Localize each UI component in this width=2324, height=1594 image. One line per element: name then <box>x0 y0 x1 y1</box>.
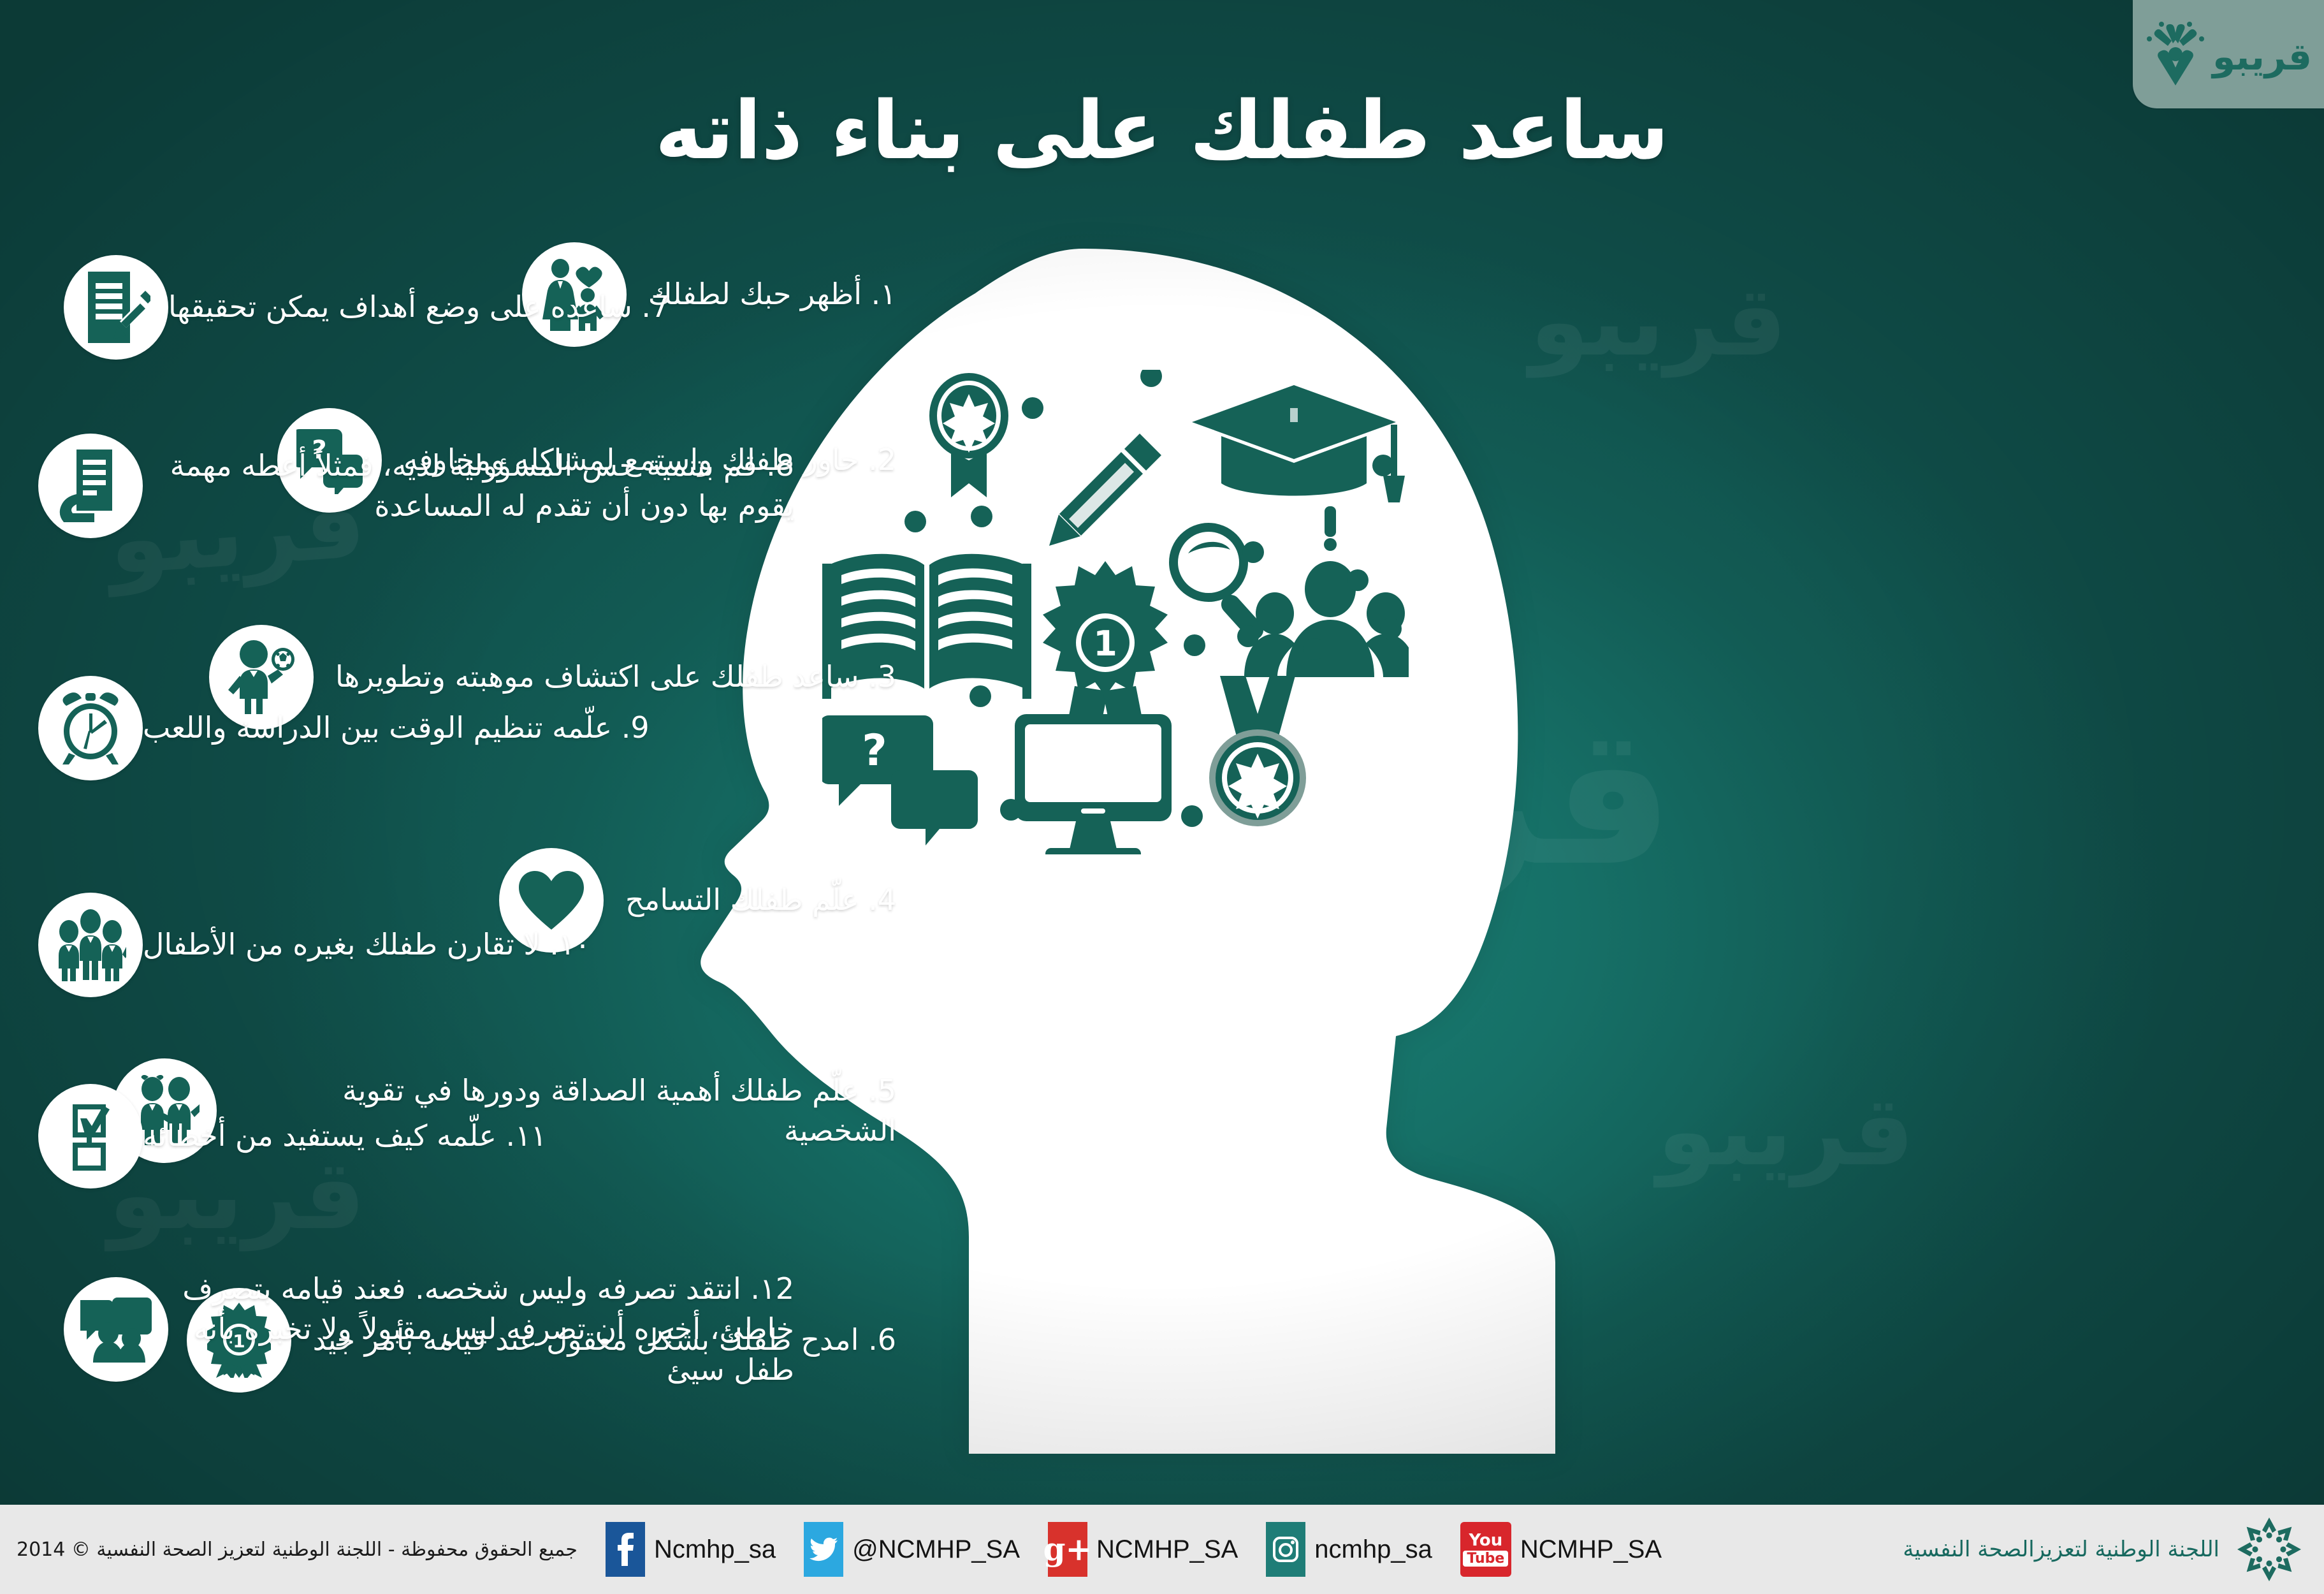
social-instagram[interactable]: ncmhp_sa <box>1266 1522 1432 1577</box>
starburst-people-logo-icon <box>2233 1514 2305 1585</box>
brain-icon-cluster: 1 ? <box>822 370 1409 854</box>
social-twitter[interactable]: @NCMHP_SA <box>804 1522 1020 1577</box>
tip-text-7: 7. ساعده على وضع أهداف يمكن تحقيقها <box>168 287 691 327</box>
person-hands-logo-icon <box>2145 19 2206 89</box>
tip-text-11: ١١. علّمه كيف يستفيد من أخطائه <box>143 1116 569 1156</box>
tip-item-9[interactable]: 9. علّمه تنظيم الوقت بين الدراسة واللعب <box>38 676 746 780</box>
tip-item-12[interactable]: ١2. انتقد تصرفه وليس شخصه. فعند قيامه بت… <box>64 1269 816 1390</box>
facebook-icon <box>606 1522 645 1577</box>
copyright-text: جميع الحقوق محفوظة - اللجنة الوطنية لتعز… <box>17 1539 577 1561</box>
medal-star-icon <box>1209 676 1306 826</box>
googleplus-handle: NCMHP_SA <box>1096 1535 1238 1564</box>
social-googleplus[interactable]: g+ NCMHP_SA <box>1048 1522 1238 1577</box>
tip-text-8: 8. قم بتنمية حس المسؤولية لديه، فمثلاً أ… <box>143 446 816 527</box>
twitter-handle: @NCMHP_SA <box>852 1535 1020 1564</box>
pencil-icon <box>1049 434 1161 546</box>
tip-item-7[interactable]: 7. ساعده على وضع أهداف يمكن تحقيقها <box>64 255 816 360</box>
googleplus-glyph: g+ <box>1043 1533 1093 1565</box>
social-facebook[interactable]: Ncmhp_sa <box>606 1522 776 1577</box>
alarm-clock-icon <box>38 676 143 780</box>
graduation-cap-icon <box>1192 385 1405 502</box>
organization-branding[interactable]: اللجنة الوطنية لتعزيزالصحة النفسية <box>1903 1514 2305 1585</box>
facebook-handle: Ncmhp_sa <box>654 1535 776 1564</box>
people-group-exclamation-icon <box>1244 506 1409 677</box>
tip-text-12: ١2. انتقد تصرفه وليس شخصه. فعند قيامه بت… <box>168 1269 816 1390</box>
footer-bar: جميع الحقوق محفوظة - اللجنة الوطنية لتعز… <box>0 1505 2324 1594</box>
monitor-icon <box>1015 714 1172 854</box>
checkbox-list-icon <box>38 1084 143 1188</box>
brand-name: قريبو <box>2212 38 2312 75</box>
watermark: قريبو <box>1530 274 1787 370</box>
youtube-handle: NCMHP_SA <box>1520 1535 1662 1564</box>
instagram-icon <box>1266 1522 1305 1577</box>
organization-name: اللجنة الوطنية لتعزيزالصحة النفسية <box>1903 1537 2219 1562</box>
youtube-icon: YouTube <box>1460 1522 1511 1577</box>
tip-item-10[interactable]: ١٠. لا تقارن طفلك بغيره من الأطفال <box>38 893 746 997</box>
award-ribbon-star-icon <box>929 373 1008 497</box>
twitter-icon <box>804 1522 843 1577</box>
chat-bubbles-question-icon: ? <box>822 715 978 845</box>
three-children-icon <box>38 893 143 997</box>
document-pencil-icon <box>64 255 168 360</box>
svg-text:1: 1 <box>1093 624 1117 664</box>
svg-text:?: ? <box>862 726 887 776</box>
infographic-canvas: قريبو قريبو قريبو قريبو قريبو <box>0 0 2324 1594</box>
tip-item-11[interactable]: ١١. علّمه كيف يستفيد من أخطائه <box>38 1084 746 1188</box>
tip-text-10: ١٠. لا تقارن طفلك بغيره من الأطفال <box>143 925 612 965</box>
magnifier-icon <box>1169 523 1267 643</box>
tip-item-8[interactable]: 8. قم بتنمية حس المسؤولية لديه، فمثلاً أ… <box>38 434 816 538</box>
social-youtube[interactable]: YouTube NCMHP_SA <box>1460 1522 1662 1577</box>
hand-document-icon <box>38 434 143 538</box>
watermark: قريبو <box>1657 1084 1914 1180</box>
instagram-handle: ncmhp_sa <box>1314 1535 1432 1564</box>
googleplus-icon: g+ <box>1048 1522 1087 1577</box>
page-title: ساعد طفلك على بناء ذاته <box>0 87 2324 175</box>
tip-text-9: 9. علّمه تنظيم الوقت بين الدراسة واللعب <box>143 708 671 748</box>
two-people-chat-icon <box>64 1277 168 1382</box>
